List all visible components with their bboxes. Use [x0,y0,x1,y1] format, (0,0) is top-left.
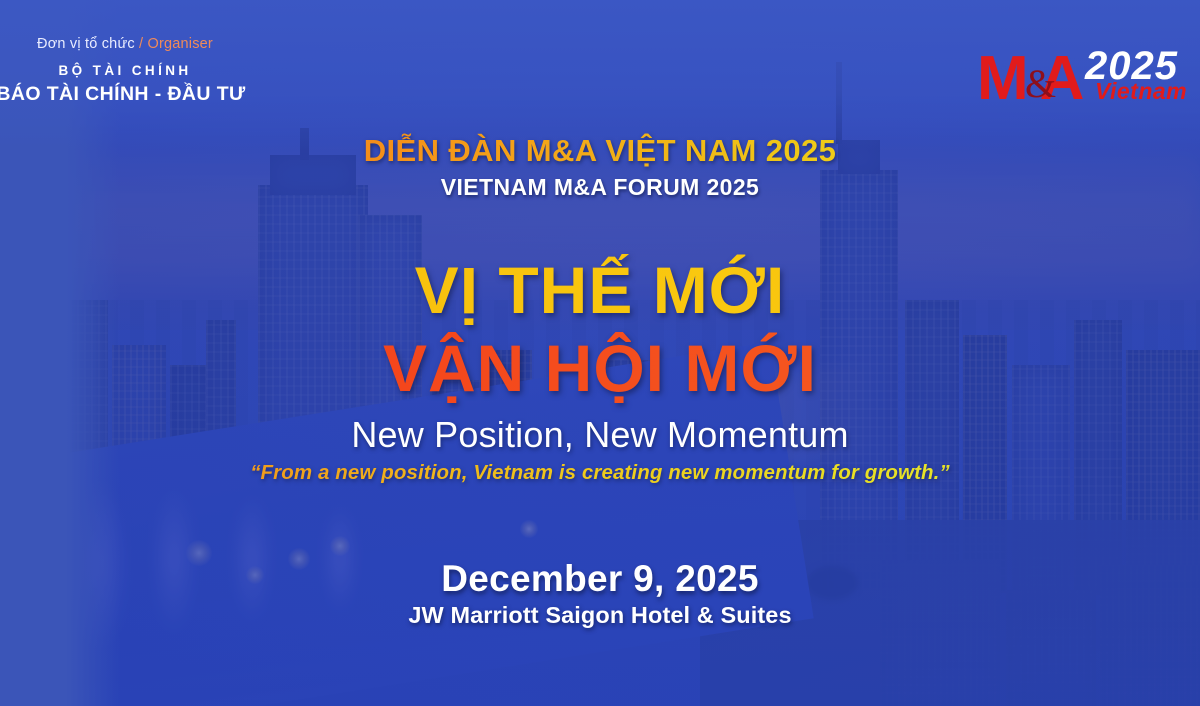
logo-country: Vietnam [1095,80,1187,103]
organiser-ministry: BỘ TÀI CHÍNH [0,63,250,78]
poster-content: Đơn vị tổ chức / Organiser BỘ TÀI CHÍNH … [0,0,1200,706]
headline-subtitle-english: New Position, New Momentum [0,414,1200,456]
headline-line-2: VẬN HỘI MỚI [0,330,1200,406]
organiser-newspaper: BÁO TÀI CHÍNH - ĐẦU TƯ [0,83,250,106]
event-title-vietnamese: DIỄN ĐÀN M&A VIỆT NAM 2025 [0,133,1200,169]
logo-ampersand-icon: & [1025,64,1056,104]
event-date: December 9, 2025 [0,558,1200,600]
event-quote: “From a new position, Vietnam is creatin… [0,461,1200,485]
event-venue: JW Marriott Saigon Hotel & Suites [0,602,1200,629]
organiser-label-vi: Đơn vị tổ chức [37,36,135,52]
headline-line-1: VỊ THẾ MỚI [0,252,1200,328]
organiser-block: Đơn vị tổ chức / Organiser BỘ TÀI CHÍNH … [0,36,250,106]
organiser-label: Đơn vị tổ chức / Organiser [0,36,250,52]
organiser-label-separator: / [135,36,148,52]
ma-vietnam-logo[interactable]: M A & 2025 Vietnam [977,48,1192,114]
event-title-english: VIETNAM M&A FORUM 2025 [0,174,1200,201]
organiser-label-en: Organiser [147,36,212,52]
